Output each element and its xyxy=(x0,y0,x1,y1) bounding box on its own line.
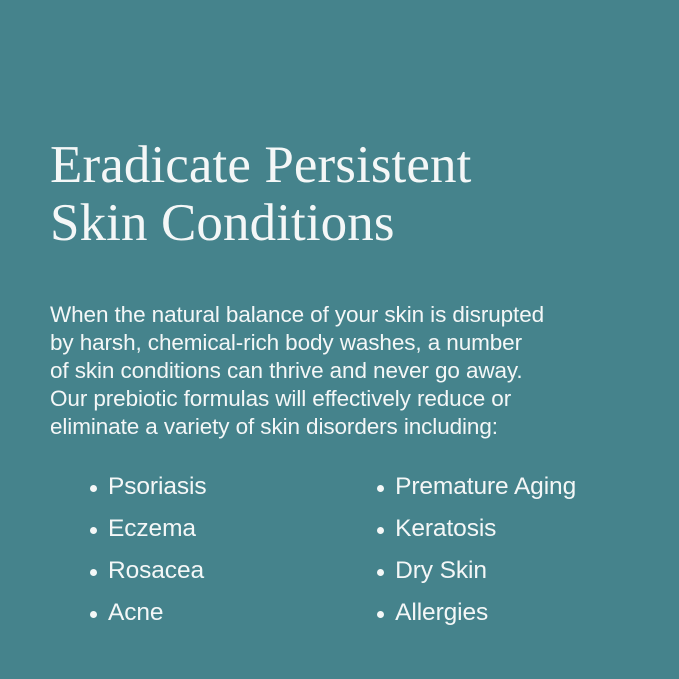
body-paragraph-line-5: eliminate a variety of skin disorders in… xyxy=(50,413,630,441)
list-item: Keratosis xyxy=(377,508,640,550)
body-paragraph-line-1: When the natural balance of your skin is… xyxy=(50,301,630,329)
list-item-label: Keratosis xyxy=(395,508,496,550)
page-title: Eradicate Persistent Skin Conditions xyxy=(50,136,650,252)
body-paragraph: When the natural balance of your skin is… xyxy=(50,301,630,441)
body-paragraph-line-3: of skin conditions can thrive and never … xyxy=(50,357,630,385)
list-item: Premature Aging xyxy=(377,466,640,508)
conditions-list: Psoriasis Eczema Rosacea Acne Premature … xyxy=(50,450,640,650)
list-item-label: Psoriasis xyxy=(108,466,207,508)
bullet-dot-icon xyxy=(377,569,384,576)
page-title-line-2: Skin Conditions xyxy=(50,194,650,252)
list-item: Rosacea xyxy=(90,550,337,592)
bullet-dot-icon xyxy=(377,611,384,618)
bullet-dot-icon xyxy=(90,527,97,534)
list-item: Acne xyxy=(90,592,337,634)
list-item: Psoriasis xyxy=(90,466,337,508)
bullet-dot-icon xyxy=(90,611,97,618)
list-item-label: Eczema xyxy=(108,508,196,550)
conditions-column-left: Psoriasis Eczema Rosacea Acne xyxy=(50,466,337,634)
bullet-dot-icon xyxy=(377,527,384,534)
bullet-dot-icon xyxy=(90,485,97,492)
conditions-column-right: Premature Aging Keratosis Dry Skin Aller… xyxy=(337,466,640,634)
body-paragraph-line-4: Our prebiotic formulas will effectively … xyxy=(50,385,630,413)
list-item-label: Rosacea xyxy=(108,550,204,592)
list-item: Dry Skin xyxy=(377,550,640,592)
list-item-label: Dry Skin xyxy=(395,550,487,592)
list-item-label: Premature Aging xyxy=(395,466,576,508)
bullet-dot-icon xyxy=(90,569,97,576)
list-item-label: Allergies xyxy=(395,592,488,634)
page-title-line-1: Eradicate Persistent xyxy=(50,136,650,194)
promo-poster: Eradicate Persistent Skin Conditions Whe… xyxy=(0,0,679,679)
list-item: Eczema xyxy=(90,508,337,550)
body-paragraph-line-2: by harsh, chemical-rich body washes, a n… xyxy=(50,329,630,357)
bullet-dot-icon xyxy=(377,485,384,492)
list-item-label: Acne xyxy=(108,592,163,634)
list-item: Allergies xyxy=(377,592,640,634)
